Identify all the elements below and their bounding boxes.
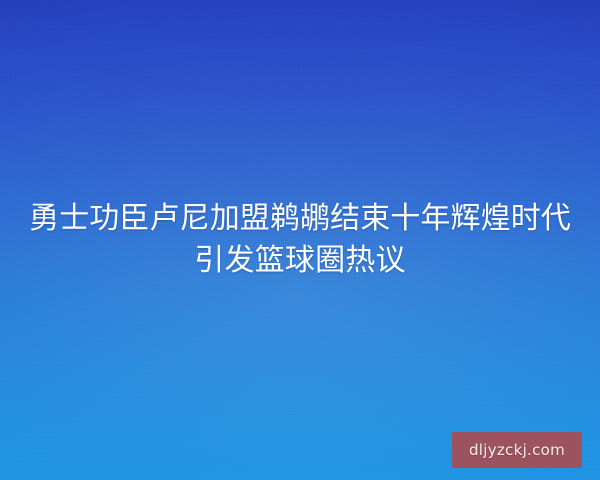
headline-line-1: 勇士功臣卢尼加盟鹈鹕结束十年辉煌时代 xyxy=(14,198,586,240)
page-title: 勇士功臣卢尼加盟鹈鹕结束十年辉煌时代 引发篮球圈热议 xyxy=(0,198,600,282)
headline-card: 勇士功臣卢尼加盟鹈鹕结束十年辉煌时代 引发篮球圈热议 dljyzckj.com xyxy=(0,0,600,480)
watermark-label: dljyzckj.com xyxy=(469,443,565,458)
watermark-badge[interactable]: dljyzckj.com xyxy=(452,432,582,468)
headline-line-2: 引发篮球圈热议 xyxy=(14,240,586,282)
